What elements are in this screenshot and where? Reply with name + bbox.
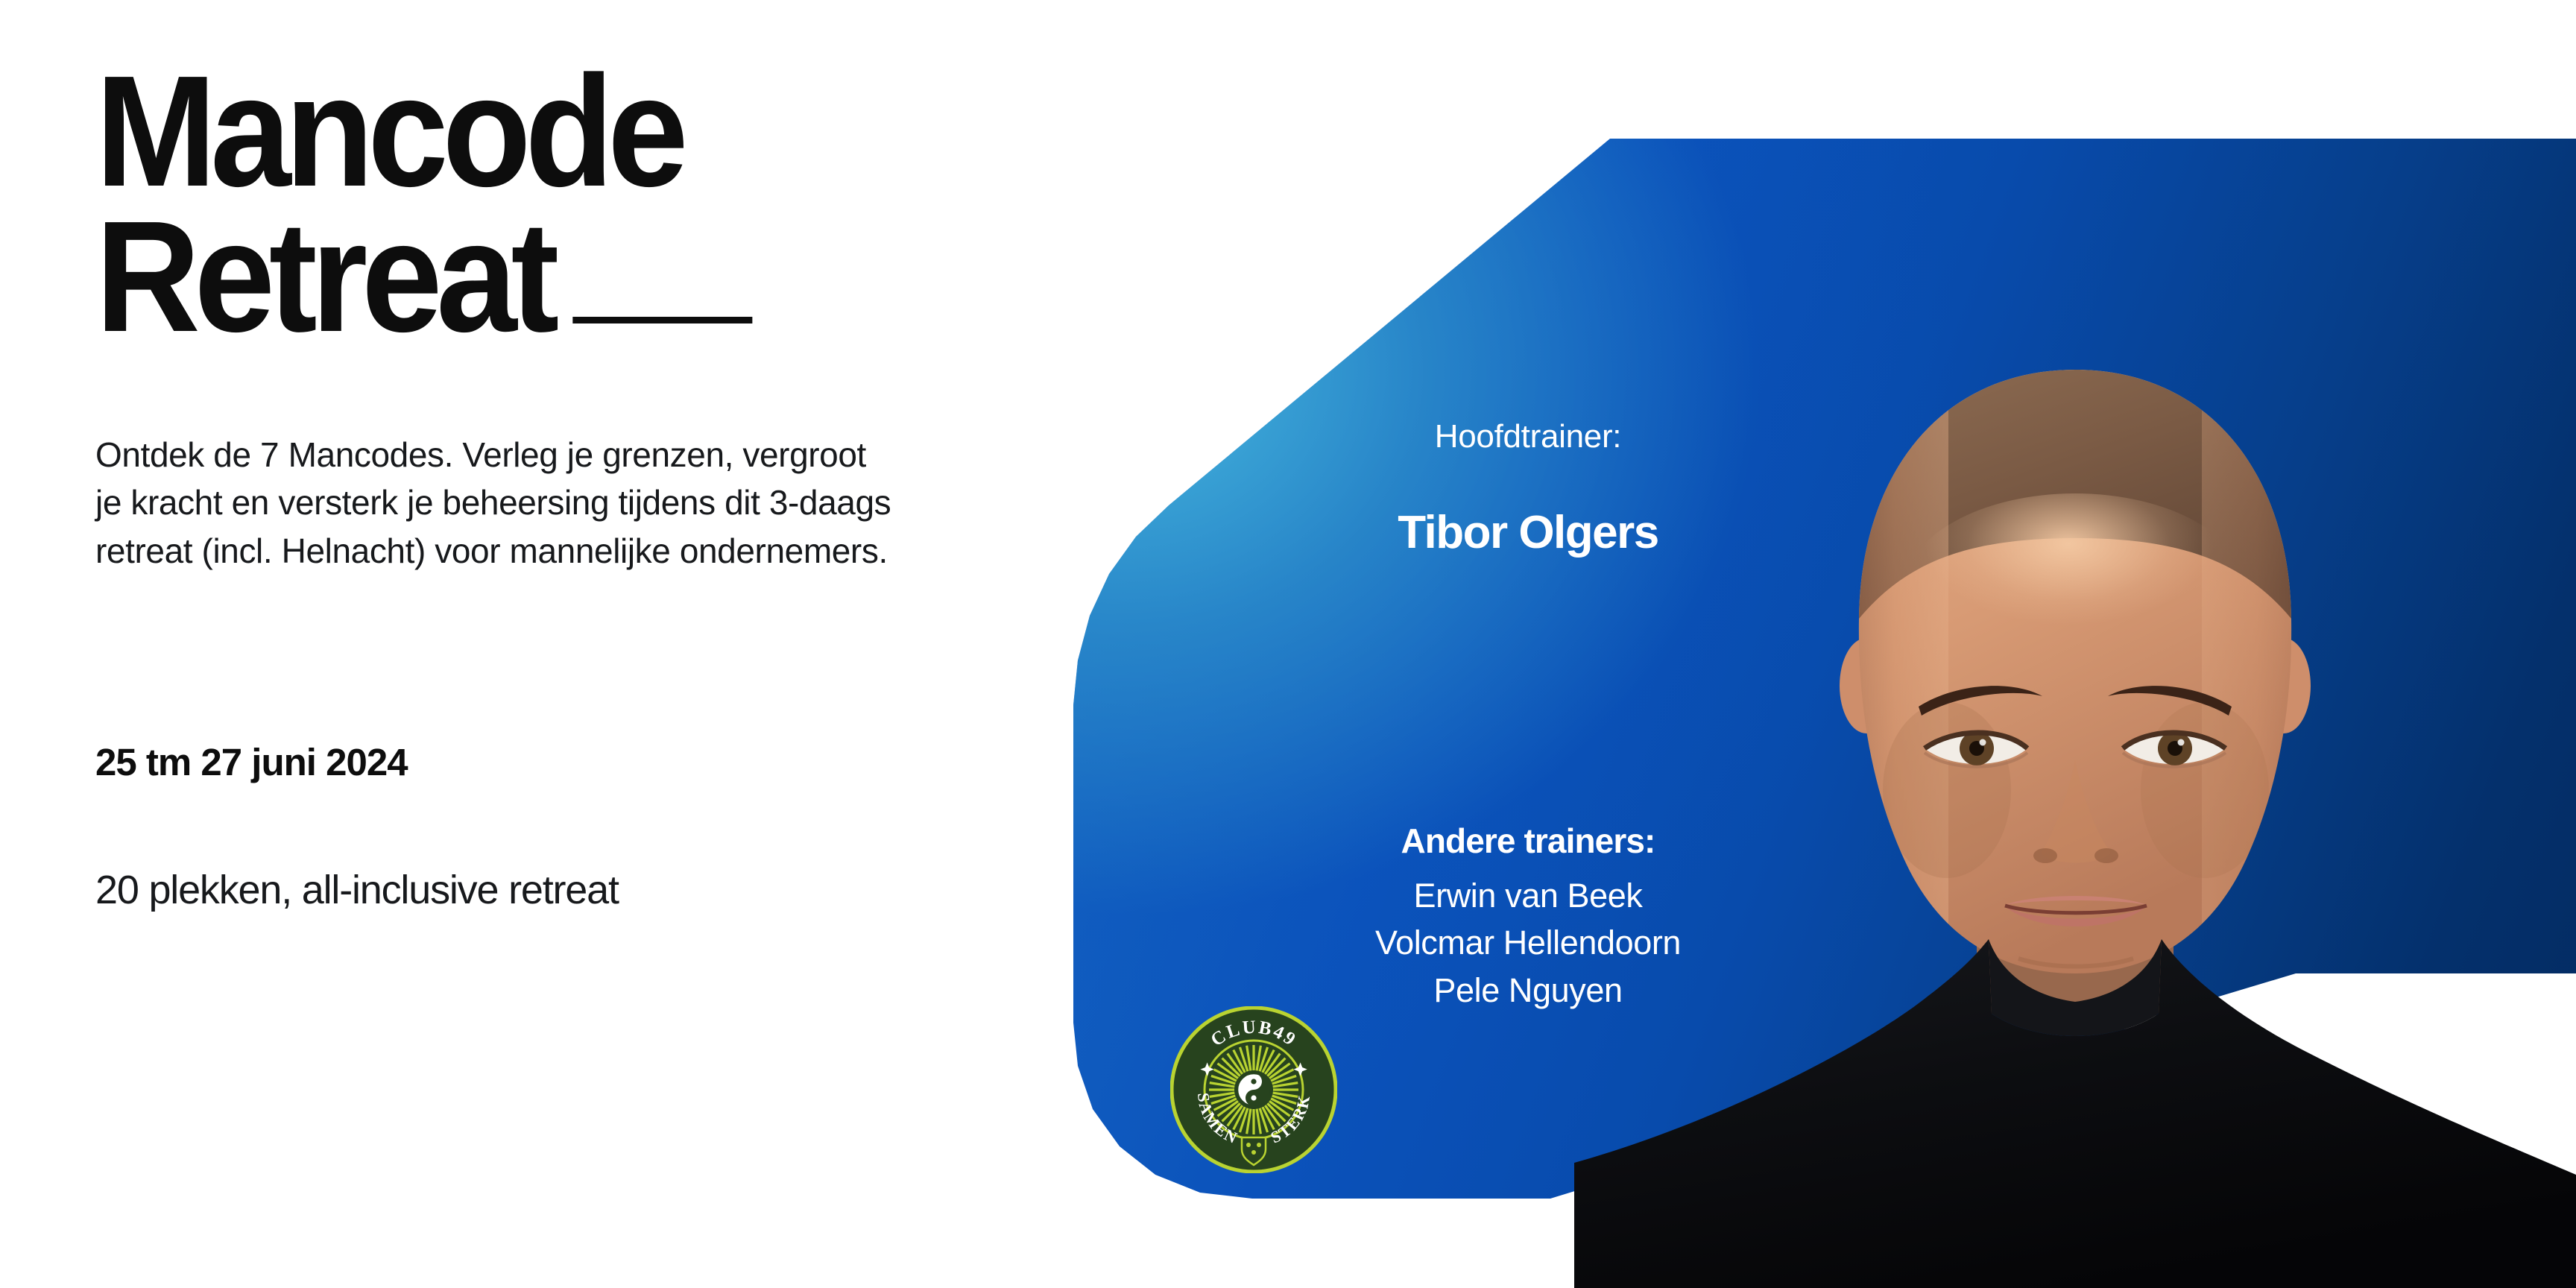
headline-underline-rule xyxy=(572,317,752,323)
headline-line-2-row: Retreat xyxy=(95,203,905,349)
badge-yinyang-icon xyxy=(1237,1073,1270,1106)
headline-line-2: Retreat xyxy=(95,203,553,349)
date-line: 25 tm 27 juni 2024 xyxy=(95,740,408,784)
body-copy: Ontdek de 7 Mancodes. Verleg je grenzen,… xyxy=(95,431,900,575)
left-nostril xyxy=(2033,848,2057,863)
category-tag: Persoonlijke Groei xyxy=(2181,78,2542,127)
headline-line-1: Mancode xyxy=(95,58,905,203)
trainer-portrait-photo xyxy=(1574,298,2576,1288)
headline-block: Mancode Retreat xyxy=(95,58,975,349)
head xyxy=(1859,370,2293,981)
club49-badge: CLUB49 SAMEN STERK xyxy=(1170,1006,1337,1173)
spots-line: 20 plekken, all-inclusive retreat xyxy=(95,867,619,913)
right-nostril xyxy=(2094,848,2118,863)
